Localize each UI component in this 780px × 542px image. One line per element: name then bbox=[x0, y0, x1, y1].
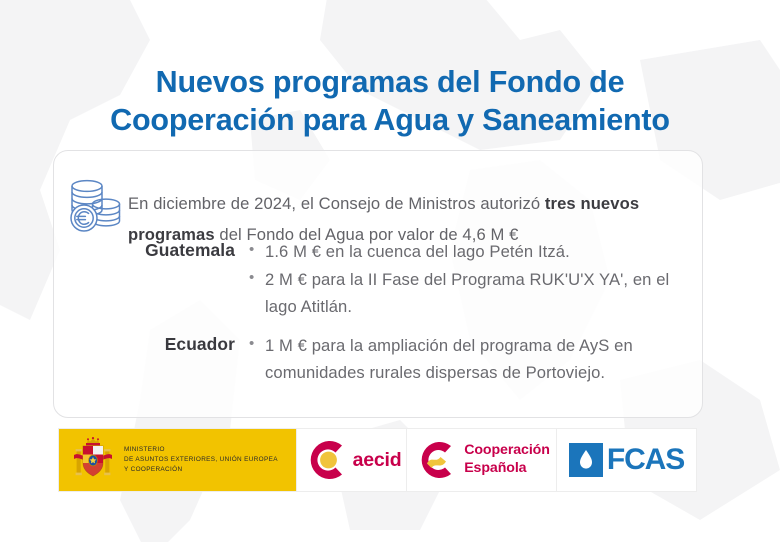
aecid-c-mark-icon bbox=[302, 437, 348, 483]
ministerio-text-block: MINISTERIO DE ASUNTOS EXTERIORES, UNIÓN … bbox=[124, 445, 278, 474]
country-row-ecuador: Ecuador 1 M € para la ampliación del pro… bbox=[54, 333, 704, 388]
list-item: 1 M € para la ampliación del programa de… bbox=[248, 333, 704, 387]
info-card: En diciembre de 2024, el Consejo de Mini… bbox=[53, 150, 703, 418]
coins-euro-icon bbox=[63, 176, 127, 234]
list-item: 2 M € para la II Fase del Programa RUK'U… bbox=[248, 267, 704, 321]
water-drop-icon bbox=[569, 443, 603, 477]
aecid-label: aecid bbox=[353, 449, 402, 472]
logo-fcas: FCAS bbox=[557, 429, 696, 491]
list-item: 1.6 M € en la cuenca del lago Petén Itzá… bbox=[248, 239, 704, 266]
spain-coat-of-arms-icon bbox=[73, 436, 113, 484]
intro-bold-tres: tres bbox=[545, 194, 576, 213]
page-title-line-1: Nuevos programas del Fondo de bbox=[0, 64, 780, 101]
fcas-label: FCAS bbox=[607, 443, 684, 477]
page-title: Nuevos programas del Fondo de Cooperació… bbox=[0, 64, 780, 138]
bullet-list-guatemala: 1.6 M € en la cuenca del lago Petén Itzá… bbox=[248, 239, 704, 322]
logo-cooperacion-espanola: Cooperación Española bbox=[407, 429, 557, 491]
cooperacion-line-2: Española bbox=[464, 460, 550, 478]
ministerio-line-3: Y COOPERACIÓN bbox=[124, 465, 278, 475]
intro-row: En diciembre de 2024, el Consejo de Mini… bbox=[54, 167, 704, 239]
ministerio-line-2: DE ASUNTOS EXTERIORES, UNIÓN EUROPEA bbox=[124, 455, 278, 465]
logo-aecid: aecid bbox=[297, 429, 407, 491]
cooperacion-espanola-c-mark-icon bbox=[413, 438, 457, 482]
intro-part-1: En diciembre de 2024, el Consejo de Mini… bbox=[128, 194, 545, 213]
page-title-line-2: Cooperación para Agua y Saneamiento bbox=[0, 102, 780, 139]
logo-bar: MINISTERIO DE ASUNTOS EXTERIORES, UNIÓN … bbox=[58, 428, 697, 492]
country-row-guatemala: Guatemala 1.6 M € en la cuenca del lago … bbox=[54, 239, 704, 322]
ministerio-line-1: MINISTERIO bbox=[124, 445, 278, 455]
bullet-list-ecuador: 1 M € para la ampliación del programa de… bbox=[248, 333, 704, 388]
country-label-guatemala: Guatemala bbox=[54, 239, 248, 322]
country-label-ecuador: Ecuador bbox=[54, 333, 248, 388]
cooperacion-label: Cooperación Española bbox=[464, 442, 550, 477]
logo-ministerio-asuntos-exteriores: MINISTERIO DE ASUNTOS EXTERIORES, UNIÓN … bbox=[59, 429, 297, 491]
cooperacion-line-1: Cooperación bbox=[464, 442, 550, 460]
